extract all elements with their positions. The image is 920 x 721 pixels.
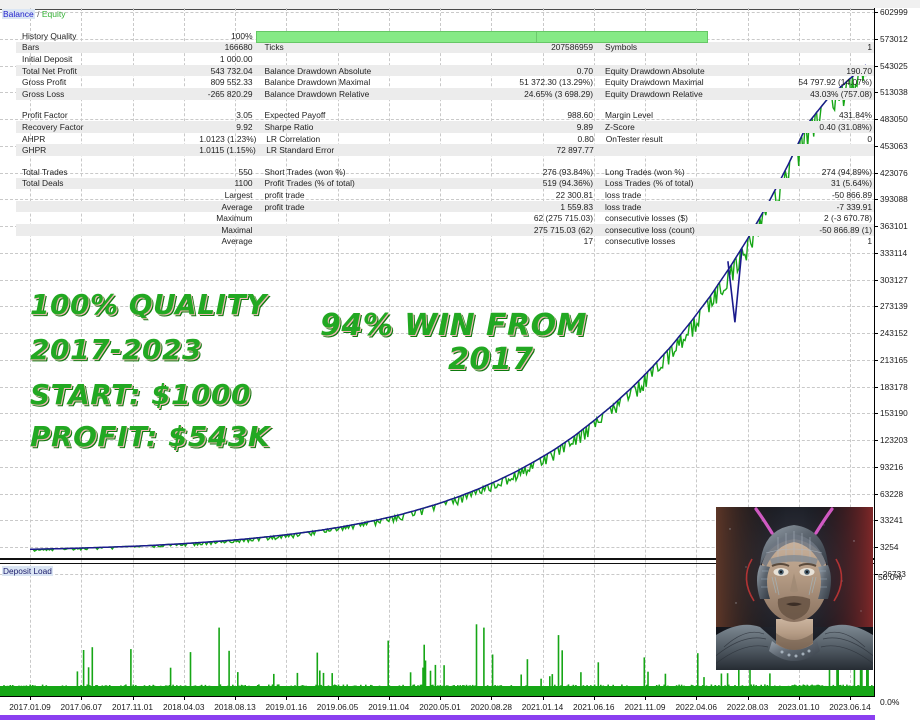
y-axis-tick-mark: [875, 413, 878, 414]
x-axis-tick-label: 2021.06.16: [573, 702, 615, 712]
stat-row: Average17consecutive losses1: [16, 236, 876, 248]
promo-caption: 2017-2023: [30, 333, 202, 366]
y-axis-tick-mark: [875, 226, 878, 227]
promo-caption: 100% QUALITY: [30, 288, 267, 321]
y-axis-tick-mark: [875, 199, 878, 200]
stat-value-3: -7 339.91: [759, 202, 876, 212]
stat-label-2: Balance Drawdown Maximal: [257, 77, 469, 87]
y-axis-tick-label: 483050: [880, 114, 908, 124]
stat-label-3: Loss Trades (% of total): [597, 178, 759, 188]
y-axis-tick-mark: [875, 387, 878, 388]
stat-value-3: 0: [759, 134, 876, 144]
promo-caption: 94% WIN FROM: [320, 308, 587, 343]
x-axis-tick-label: 2019.06.05: [317, 702, 359, 712]
stat-label-2: Sharpe Ratio: [257, 122, 469, 132]
y-axis-tick-label: 33241: [880, 515, 903, 525]
y-axis-tick-mark: [875, 39, 878, 40]
x-axis-tick-label: 2023.06.14: [829, 702, 871, 712]
stat-value-1: 166680: [200, 42, 257, 52]
y-axis-tick-mark: [875, 253, 878, 254]
stat-value-2: 0.80: [469, 134, 598, 144]
stat-value-3: 2 (-3 670.78): [759, 213, 876, 223]
y-axis-tick-label: 213165: [880, 355, 908, 365]
stat-label-3: Equity Drawdown Maximal: [597, 77, 759, 87]
stat-label-1: GHPR: [16, 145, 199, 155]
x-axis-tick-label: 2017.06.07: [60, 702, 102, 712]
x-axis-tick-label: 2022.04.06: [675, 702, 717, 712]
stat-label-3: loss trade: [597, 190, 759, 200]
y-axis-tick-mark: [875, 12, 878, 13]
stat-label-2: profit trade: [257, 190, 469, 200]
stat-value-3: -50 866.89: [759, 190, 876, 200]
stat-row: GHPR1.0115 (1.15%)LR Standard Error72 89…: [16, 144, 876, 156]
stat-value-2: 988.60: [468, 110, 597, 120]
stat-value-2: 72 897.77: [469, 145, 598, 155]
deposit-load-zero-label: 0.0%: [880, 697, 899, 707]
x-axis-tick-mark: [133, 697, 134, 700]
x-axis-tick-mark: [389, 697, 390, 700]
y-axis-tick-mark: [875, 333, 878, 334]
stat-row: [16, 156, 876, 166]
stat-label-1: AHPR: [16, 134, 199, 144]
stat-row: Initial Deposit1 000.00: [16, 53, 876, 65]
statistics-table: History Quality100%Bars166680Ticks207586…: [16, 30, 876, 247]
x-axis-tick-label: 2020.05.01: [419, 702, 461, 712]
stat-value-1: 1100: [200, 178, 257, 188]
stat-label-3: consecutive loss (count): [597, 225, 759, 235]
stat-label-2: Balance Drawdown Absolute: [257, 66, 469, 76]
avatar: [716, 507, 873, 670]
stat-value-3: -50 866.89 (1): [759, 225, 876, 235]
x-axis-tick-mark: [81, 697, 82, 700]
stat-row: Maximum62 (275 715.03)consecutive losses…: [16, 212, 876, 224]
stat-label-1: Gross Loss: [16, 89, 200, 99]
stat-label-1: Profit Factor: [16, 110, 200, 120]
y-axis-tick-label: 453063: [880, 141, 908, 151]
stat-row: Total Deals1100Profit Trades (% of total…: [16, 178, 876, 190]
history-quality-bar: [256, 31, 708, 43]
stat-label-3: Z-Score: [597, 122, 759, 132]
strategy-tester-report: Balance / Equity History Quality100%Bars…: [0, 0, 920, 720]
y-axis-tick-label: 573012: [880, 34, 908, 44]
stat-row: Bars166680Ticks207586959Symbols1: [16, 42, 876, 54]
stat-value-3: 43.03% (757.08): [759, 89, 876, 99]
stat-label-3: Equity Drawdown Absolute: [597, 66, 759, 76]
stat-label-2: Ticks: [257, 42, 469, 52]
stat-value-1: 550: [200, 167, 257, 177]
stat-label-3: Long Trades (won %): [597, 167, 759, 177]
y-axis-tick-mark: [875, 547, 878, 548]
y-axis-tick-mark: [875, 119, 878, 120]
stat-value-1: 543 732.04: [200, 66, 257, 76]
promo-caption: 2017: [448, 342, 534, 377]
stat-row: [16, 100, 876, 110]
stat-label-3: loss trade: [597, 202, 759, 212]
stat-label-2: LR Standard Error: [258, 145, 469, 155]
stat-label-3: Margin Level: [597, 110, 759, 120]
stat-value-1: 3.05: [200, 110, 257, 120]
stat-label-1: Initial Deposit: [16, 54, 200, 64]
stat-label-2: Balance Drawdown Relative: [257, 89, 469, 99]
deposit-load-half-label: 50.0%: [878, 572, 902, 582]
stat-row: Profit Factor3.05Expected Payoff988.60Ma…: [16, 110, 876, 122]
stat-value-2: 9.89: [468, 122, 597, 132]
y-axis-tick-label: 513038: [880, 87, 908, 97]
stat-row: Gross Loss-265 820.29Balance Drawdown Re…: [16, 88, 876, 100]
x-axis-tick-mark: [799, 697, 800, 700]
x-axis-tick-mark: [696, 697, 697, 700]
y-axis-tick-label: 153190: [880, 408, 908, 418]
stat-value-2: 207586959: [468, 42, 597, 52]
stat-value-2: 0.70: [468, 66, 597, 76]
stat-value-1: 809 552.33: [200, 77, 257, 87]
x-axis-tick-mark: [594, 697, 595, 700]
y-axis-tick-label: 543025: [880, 61, 908, 71]
stat-row: Recovery Factor9.92Sharpe Ratio9.89Z-Sco…: [16, 121, 876, 133]
stat-value-1: 1.0115 (1.15%): [199, 145, 258, 155]
legend-equity: Equity: [42, 9, 66, 19]
stat-row: Averageprofit trade1 559.83loss trade-7 …: [16, 201, 876, 213]
y-axis-tick-label: 63228: [880, 489, 903, 499]
stat-label-1: Recovery Factor: [16, 122, 200, 132]
x-axis-tick-mark: [440, 697, 441, 700]
stat-value-1: Maximum: [200, 213, 257, 223]
x-axis-tick-label: 2021.11.09: [625, 702, 666, 712]
y-axis-tick-label: 93216: [880, 462, 903, 472]
bottom-progress-strip: [0, 715, 875, 720]
stat-value-1: Maximal: [200, 225, 257, 235]
stat-value-2: 276 (93.84%): [468, 167, 597, 177]
stat-value-3: 190.70: [759, 66, 876, 76]
stat-value-2: 1 559.83: [468, 202, 597, 212]
stat-value-2: 275 715.03 (62): [468, 225, 597, 235]
stat-value-2: 22 300.81: [468, 190, 597, 200]
y-axis-tick-mark: [875, 520, 878, 521]
stat-value-3: 54 797.92 (14.07%): [759, 77, 876, 87]
x-axis-tick-mark: [286, 697, 287, 700]
y-axis-tick-label: 243152: [880, 328, 908, 338]
stat-row: Total Net Profit543 732.04Balance Drawdo…: [16, 65, 876, 77]
x-axis-tick-label: 2019.01.16: [265, 702, 307, 712]
stat-label-2: Expected Payoff: [257, 110, 469, 120]
y-axis-tick-label: 363101: [880, 221, 908, 231]
stat-label-1: Total Net Profit: [16, 66, 200, 76]
stat-value-2: 62 (275 715.03): [468, 213, 597, 223]
stat-value-1: 100%: [200, 31, 257, 41]
y-axis-tick-mark: [875, 173, 878, 174]
y-axis-tick-label: 393088: [880, 194, 908, 204]
stat-label-1: History Quality: [16, 31, 200, 41]
stat-row: Maximal275 715.03 (62)consecutive loss (…: [16, 224, 876, 236]
y-axis-tick-label: 3254: [880, 542, 898, 552]
y-axis-tick-mark: [875, 467, 878, 468]
y-axis-tick-label: 273139: [880, 301, 908, 311]
stat-value-2: 24.65% (3 698.29): [468, 89, 597, 99]
stat-value-3: 431.84%: [759, 110, 876, 120]
stat-row: AHPR1.0123 (1.23%)LR Correlation0.80OnTe…: [16, 133, 876, 145]
stat-value-1: 1.0123 (1.23%): [199, 134, 258, 144]
chart-legend: Balance / Equity: [2, 8, 65, 20]
y-axis-tick-label: 183178: [880, 382, 908, 392]
x-axis-tick-label: 2018.04.03: [163, 702, 205, 712]
promo-caption: START: $1000: [30, 378, 251, 411]
stat-row: Total Trades550Short Trades (won %)276 (…: [16, 166, 876, 178]
x-axis-tick-mark: [491, 697, 492, 700]
y-axis-tick-label: 602999: [880, 7, 908, 17]
stat-value-3: 1: [759, 42, 876, 52]
stat-label-3: consecutive losses: [597, 236, 759, 246]
stat-row: Gross Profit809 552.33Balance Drawdown M…: [16, 76, 876, 88]
promo-caption: PROFIT: $543K: [30, 420, 270, 453]
stat-label-1: Total Deals: [16, 178, 200, 188]
x-axis-tick-mark: [645, 697, 646, 700]
x-axis-tick-mark: [338, 697, 339, 700]
x-axis-tick-label: 2017.01.09: [9, 702, 51, 712]
stat-value-2: 51 372.30 (13.29%): [468, 77, 597, 87]
y-axis-tick-mark: [875, 66, 878, 67]
stat-value-2: 519 (94.36%): [468, 178, 597, 188]
stat-label-3: Equity Drawdown Relative: [597, 89, 759, 99]
stat-value-1: Largest: [200, 190, 257, 200]
stat-value-3: 31 (5.64%): [759, 178, 876, 188]
x-axis-tick-label: 2018.08.13: [214, 702, 256, 712]
y-axis-tick-label: 333114: [880, 248, 907, 258]
y-axis-tick-mark: [875, 146, 878, 147]
y-axis-tick-label: 423076: [880, 168, 908, 178]
x-axis-tick-label: 2023.01.10: [778, 702, 820, 712]
y-axis-tick-mark: [875, 280, 878, 281]
stat-value-3: 274 (94.89%): [759, 167, 876, 177]
x-axis-tick-mark: [850, 697, 851, 700]
y-axis-tick-mark: [875, 440, 878, 441]
stat-label-1: Total Trades: [16, 167, 200, 177]
y-axis-tick-mark: [875, 92, 878, 93]
x-axis-tick-label: 2021.01.14: [522, 702, 564, 712]
y-axis-tick-label: 303127: [880, 275, 908, 285]
stat-label-1: Bars: [16, 42, 200, 52]
stat-value-1: Average: [200, 202, 257, 212]
y-axis-tick-mark: [875, 494, 878, 495]
x-axis-tick-mark: [184, 697, 185, 700]
x-axis-tick-mark: [235, 697, 236, 700]
x-axis-tick-label: 2017.11.01: [112, 702, 153, 712]
stat-label-2: LR Correlation: [258, 134, 469, 144]
stat-label-3: consecutive losses ($): [597, 213, 759, 223]
x-axis-tick-mark: [748, 697, 749, 700]
stat-value-1: -265 820.29: [200, 89, 257, 99]
x-axis-tick-mark: [543, 697, 544, 700]
stat-label-2: Short Trades (won %): [257, 167, 469, 177]
stat-label-1: Gross Profit: [16, 77, 200, 87]
y-axis-tick-mark: [875, 360, 878, 361]
stat-label-2: profit trade: [257, 202, 469, 212]
legend-balance: Balance: [2, 9, 35, 19]
stat-label-3: Symbols: [597, 42, 759, 52]
stat-value-2: 17: [468, 236, 597, 246]
stat-value-1: Average: [200, 236, 257, 246]
stat-value-1: 1 000.00: [200, 54, 257, 64]
deposit-load-label: Deposit Load: [2, 566, 53, 576]
y-axis-tick-mark: [875, 306, 878, 307]
x-axis-tick-label: 2020.08.28: [470, 702, 512, 712]
y-axis: 6029995730125430255130384830504530634230…: [874, 8, 920, 698]
stat-value-1: 9.92: [200, 122, 257, 132]
x-axis-tick-label: 2022.08.03: [727, 702, 769, 712]
stat-row: Largestprofit trade22 300.81loss trade-5…: [16, 189, 876, 201]
legend-separator: /: [37, 9, 39, 19]
y-axis-tick-label: 123203: [880, 435, 908, 445]
stat-value-3: 0.40 (31.08%): [759, 122, 876, 132]
stat-label-2: Profit Trades (% of total): [257, 178, 469, 188]
stat-label-3: OnTester result: [598, 134, 759, 144]
x-axis-tick-label: 2019.11.04: [368, 702, 409, 712]
x-axis-tick-mark: [30, 697, 31, 700]
stat-value-3: 1: [759, 236, 876, 246]
